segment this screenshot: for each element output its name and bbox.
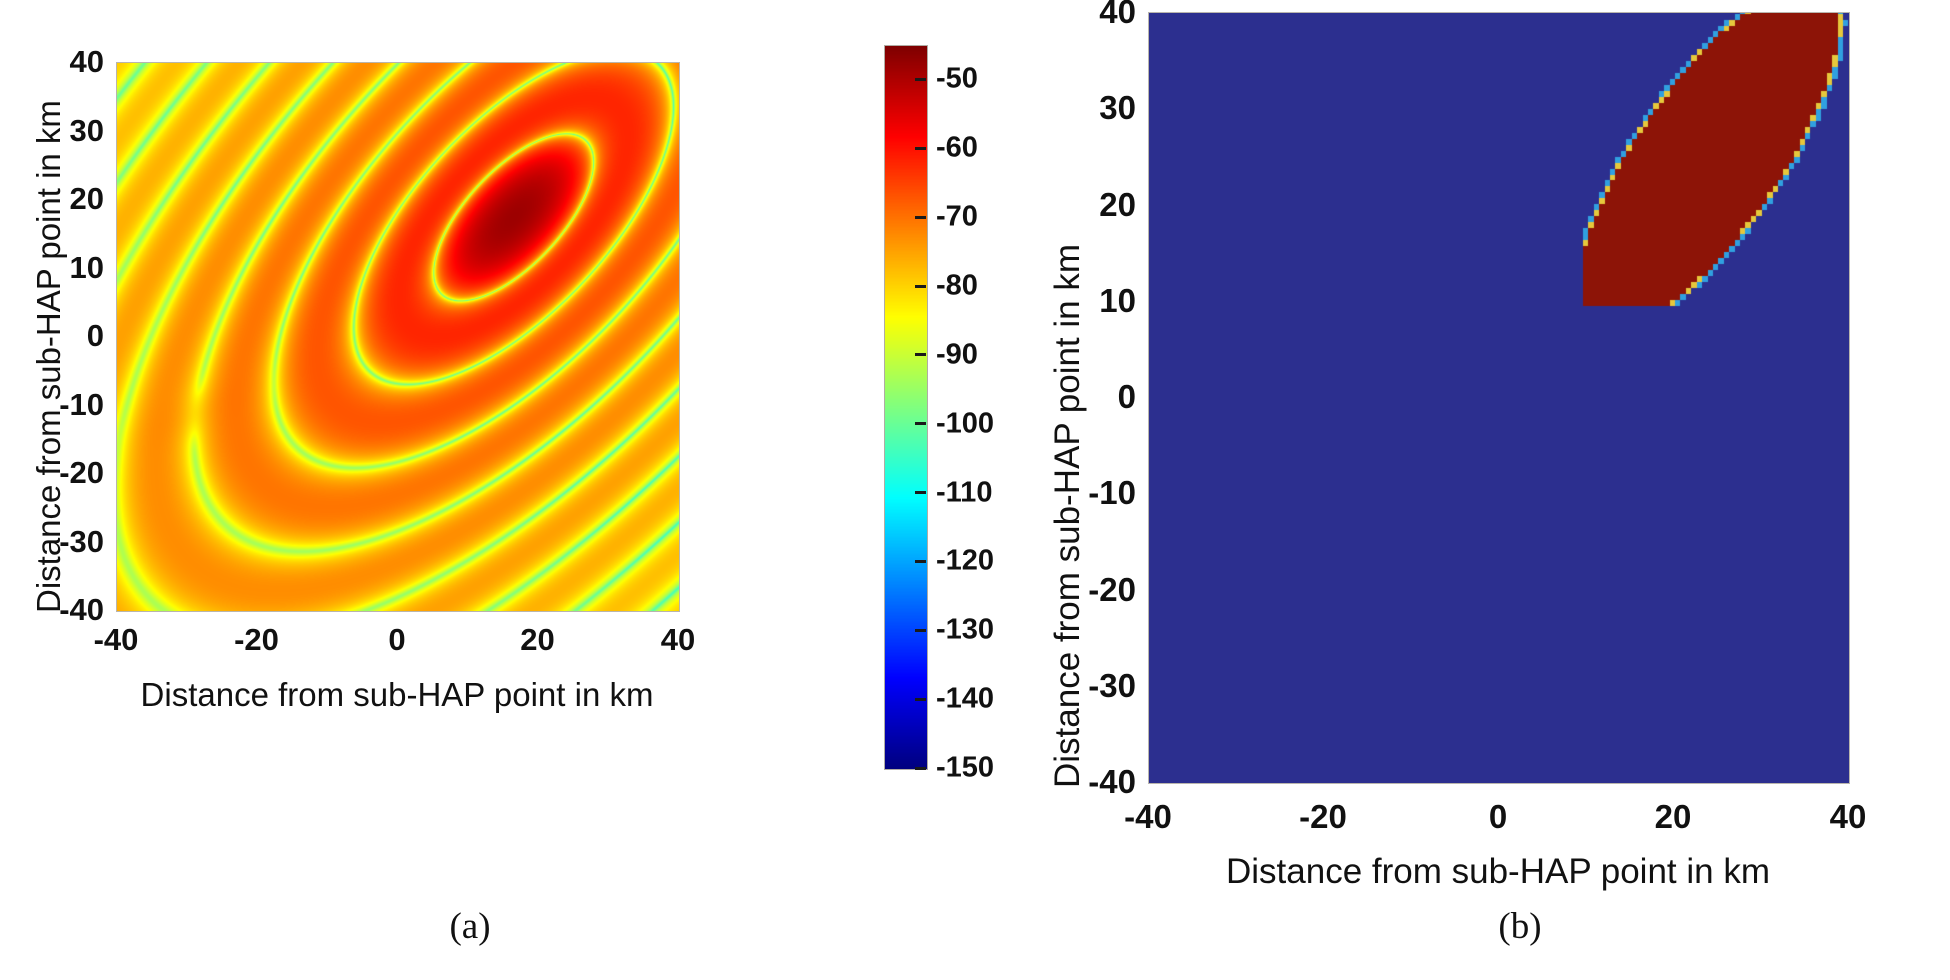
panel-b-xaxis-title: Distance from sub-HAP point in km <box>1226 852 1770 892</box>
colorbar-tick-label: -140 <box>936 683 994 716</box>
panel-a-xtick--40: -40 <box>94 622 139 658</box>
colorbar-tick-label: -90 <box>936 338 978 371</box>
colorbar-tick-mark <box>915 285 926 288</box>
panel-a-xaxis-title: Distance from sub-HAP point in km <box>141 676 654 714</box>
colorbar-tick-mark <box>915 491 926 494</box>
panel-b-xtick-40: 40 <box>1830 798 1867 836</box>
colorbar-canvas <box>885 46 927 769</box>
colorbar-tick-mark <box>915 629 926 632</box>
panel-b: 40 30 20 10 0 -10 -20 -30 -40 -40 -20 0 … <box>1000 0 1950 980</box>
panel-a-xtick--20: -20 <box>234 622 279 658</box>
colorbar-tick-label: -120 <box>936 545 994 578</box>
colorbar-tick-mark <box>915 560 926 563</box>
panel-b-ytick-40: 40 <box>1070 0 1136 31</box>
colorbar-tick-mark <box>915 353 926 356</box>
panel-a-caption: (a) <box>449 905 490 948</box>
colorbar-tick-mark <box>915 767 926 770</box>
panel-b-xtick-20: 20 <box>1655 798 1692 836</box>
panel-a-ytick-40: 40 <box>44 44 104 80</box>
colorbar-tick-label: -80 <box>936 270 978 303</box>
figure-root: 40 30 20 10 0 -10 -20 -30 -40 -40 -20 0 … <box>0 0 1950 980</box>
panel-b-xtick--20: -20 <box>1299 798 1347 836</box>
colorbar-tick-label: -70 <box>936 201 978 234</box>
colorbar-tick-mark <box>915 422 926 425</box>
colorbar-tick-mark <box>915 698 926 701</box>
panel-a-xtick-0: 0 <box>388 622 405 658</box>
colorbar-tick-mark <box>915 216 926 219</box>
panel-a-xtick-20: 20 <box>520 622 554 658</box>
panel-b-ytick-20: 20 <box>1070 186 1136 224</box>
colorbar-tick-label: -100 <box>936 407 994 440</box>
colorbar <box>884 45 928 770</box>
panel-a-xtick-40: 40 <box>661 622 695 658</box>
panel-b-ytick-30: 30 <box>1070 89 1136 127</box>
colorbar-tick-label: -50 <box>936 63 978 96</box>
colorbar-tick-mark <box>915 78 926 81</box>
panel-b-caption: (b) <box>1498 905 1541 948</box>
colorbar-tick-label: -130 <box>936 614 994 647</box>
panel-a-yaxis-title: Distance from sub-HAP point in km <box>30 100 68 613</box>
panel-b-xtick-0: 0 <box>1489 798 1507 836</box>
panel-a: 40 30 20 10 0 -10 -20 -30 -40 -40 -20 0 … <box>0 0 1000 980</box>
colorbar-tick-mark <box>915 147 926 150</box>
panel-b-coverage-map <box>1148 12 1850 784</box>
colorbar-tick-label: -110 <box>936 476 992 509</box>
panel-b-xtick--40: -40 <box>1124 798 1172 836</box>
panel-a-heatmap-canvas <box>117 63 679 611</box>
colorbar-tick-label: -150 <box>936 752 994 785</box>
colorbar-tick-label: -60 <box>936 132 978 165</box>
panel-b-yaxis-title: Distance from sub-HAP point in km <box>1048 244 1088 788</box>
panel-b-coverage-canvas <box>1149 13 1849 783</box>
panel-a-heatmap <box>116 62 680 612</box>
